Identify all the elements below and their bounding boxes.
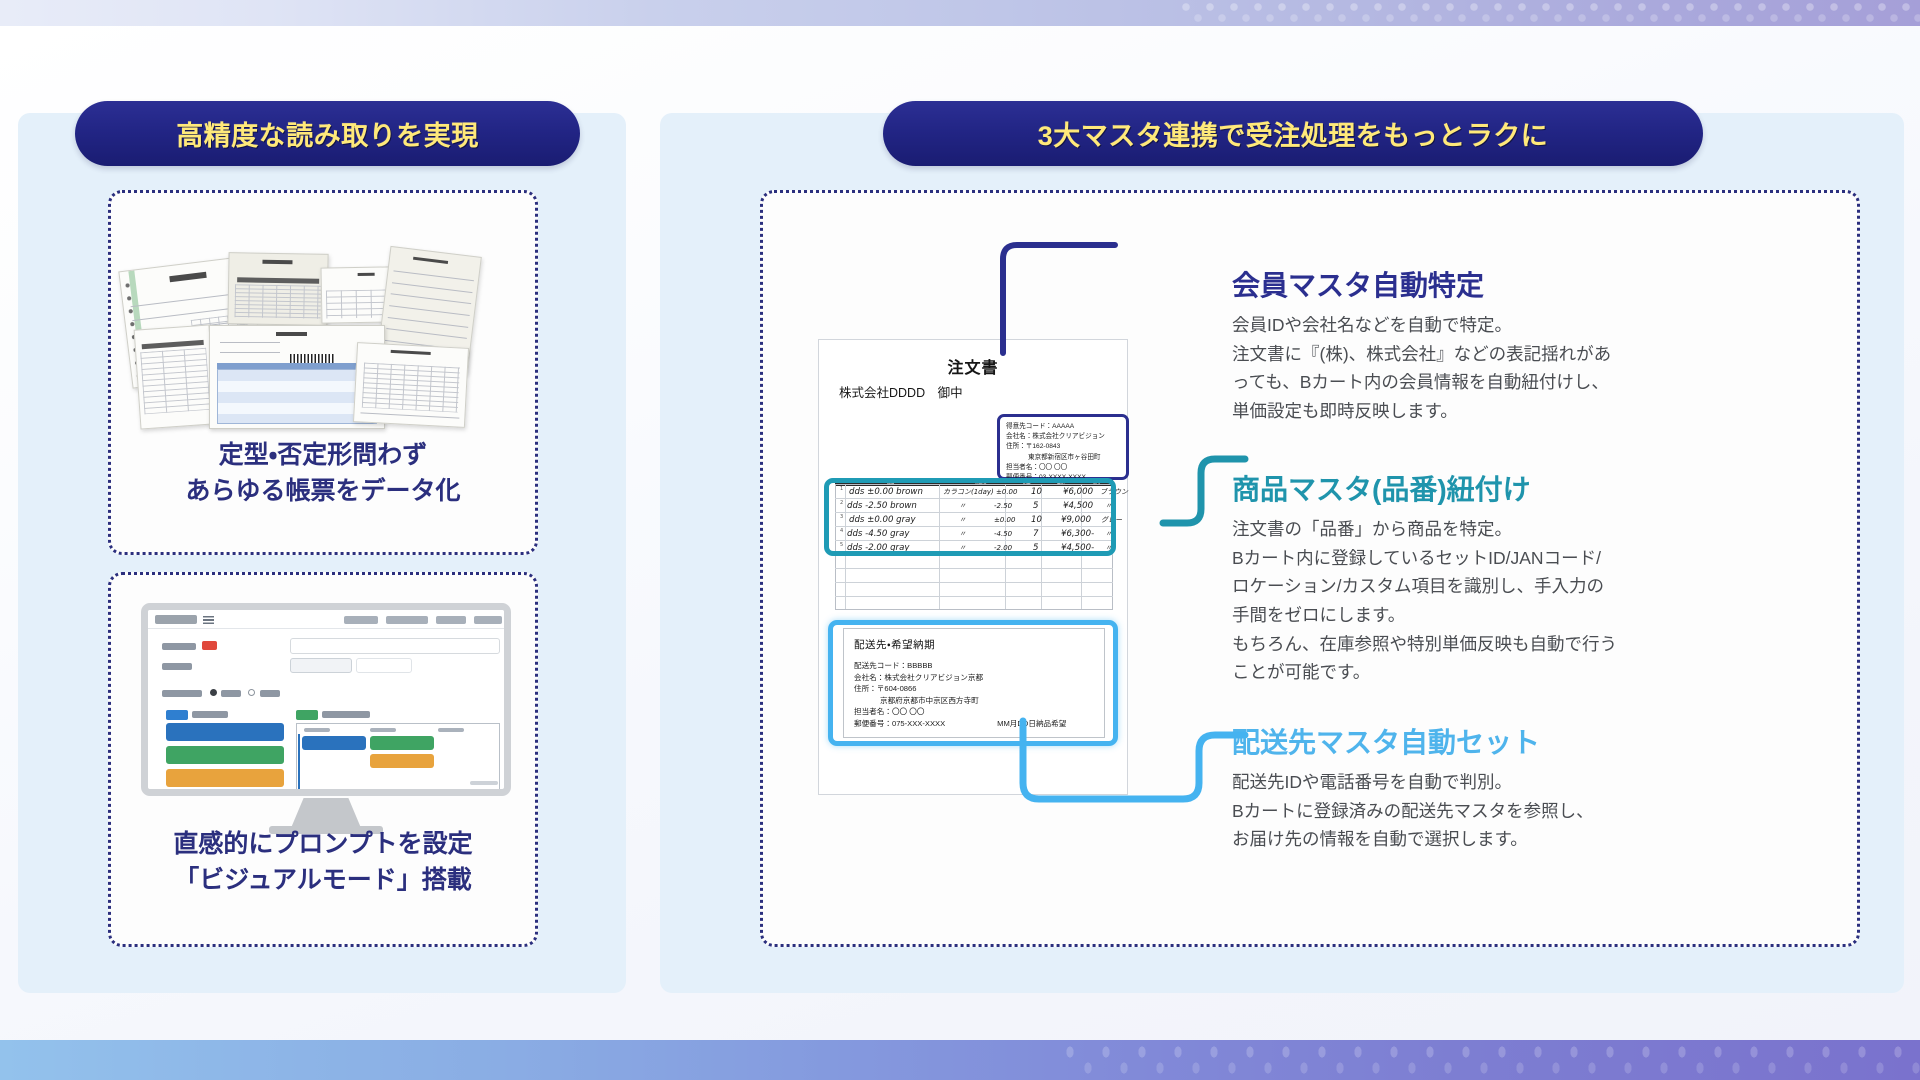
keyword-label	[162, 663, 192, 670]
right-section-header: 3大マスタ連携で受注処理をもっとラクに	[883, 101, 1703, 166]
visual-mode-caption: 直感的にプロンプトを設定 「ビジュアルモード」搭載	[111, 827, 535, 898]
row-no: 1	[840, 486, 843, 492]
canvas-footer-dots	[470, 781, 498, 785]
block-customer-info[interactable]	[166, 723, 284, 741]
scanned-forms-collage-image	[123, 241, 529, 431]
forms-caption-line-1: 定型・否定形問わず	[111, 438, 535, 474]
visual-mode-card: 直感的にプロンプトを設定 「ビジュアルモード」搭載	[108, 572, 538, 947]
connector-lines-group	[853, 223, 1253, 863]
feature-product-master: 商品マスタ(品番)紐付け 注文書の「品番」から商品を特定。 Bカート内に登録して…	[1232, 472, 1832, 687]
monitor-mockup-image	[141, 603, 511, 821]
feature-member-master: 会員マスタ自動特定 会員IDや会社名などを自動で特定。 注文書に『(株)、株式会…	[1232, 268, 1832, 426]
step1-badge	[166, 710, 188, 720]
visual-caption-line-2: 「ビジュアルモード」搭載	[111, 863, 535, 899]
bottom-gradient-band	[0, 1040, 1920, 1080]
bottom-band-dot-pattern	[1060, 1040, 1920, 1080]
monitor-stand	[291, 798, 361, 828]
row-no: 5	[840, 542, 843, 548]
canvas-col-2-label	[370, 728, 396, 732]
canvas-active-marker	[298, 734, 300, 796]
connector-product-master	[1163, 459, 1245, 523]
feature-member-title: 会員マスタ自動特定	[1232, 268, 1832, 303]
right-section-header-label: 3大マスタ連携で受注処理をもっとラクに	[1038, 114, 1549, 153]
feature-shipping-master: 配送先マスタ自動セット 配送先IDや電話番号を自動で判別。 Bカートに登録済みの…	[1232, 725, 1832, 854]
block-product-info[interactable]	[166, 746, 284, 764]
forms-collage-card: 定型・否定形問わず あらゆる帳票をデータ化	[108, 190, 538, 555]
help-menu-icon[interactable]	[344, 616, 378, 624]
canvas-block-shipping[interactable]	[370, 754, 434, 768]
output-format-label	[162, 690, 202, 697]
items-col-no: No.	[838, 480, 844, 484]
external-link-icon[interactable]	[436, 616, 466, 624]
prompt-name-input[interactable]	[290, 638, 500, 654]
feature-shipping-body: 配送先IDや電話番号を自動で判別。 Bカートに登録済みの配送先マスタを参照し、 …	[1232, 768, 1832, 854]
step2-badge	[296, 710, 318, 720]
radio-option-2-label	[260, 690, 280, 697]
prompt-list-icon[interactable]	[386, 616, 428, 624]
forms-collage-caption: 定型・否定形問わず あらゆる帳票をデータ化	[111, 438, 535, 509]
radio-option-2[interactable]	[248, 689, 255, 696]
prompt-name-label	[162, 643, 196, 650]
forms-caption-line-2: あらゆる帳票をデータ化	[111, 474, 535, 510]
user-account-icon[interactable]	[474, 616, 502, 624]
visual-mode-button[interactable]	[290, 658, 352, 673]
connector-shipping-master	[1023, 721, 1245, 799]
connector-member-master	[1003, 245, 1115, 353]
row-no: 4	[840, 528, 843, 534]
visual-caption-line-1: 直感的にプロンプトを設定	[111, 827, 535, 863]
hint-text-line-1	[166, 793, 282, 796]
text-mode-button[interactable]	[356, 658, 412, 673]
hamburger-menu-icon[interactable]	[203, 616, 214, 624]
required-badge	[202, 641, 217, 650]
canvas-col-3-label	[438, 728, 464, 732]
feature-product-body: 注文書の「品番」から商品を特定。 Bカート内に登録しているセットID/JANコー…	[1232, 515, 1832, 687]
monitor-screen	[141, 603, 511, 796]
feature-shipping-title: 配送先マスタ自動セット	[1232, 725, 1832, 760]
feature-product-title: 商品マスタ(品番)紐付け	[1232, 472, 1832, 507]
bcart-logo-icon	[155, 615, 197, 624]
feature-member-body: 会員IDや会社名などを自動で特定。 注文書に『(株)、株式会社』などの表記揺れが…	[1232, 311, 1832, 426]
canvas-col-1-label	[304, 728, 330, 732]
left-section-header-label: 高精度な読み取りを実現	[176, 114, 479, 153]
radio-option-1-label	[221, 690, 241, 697]
top-band-dot-pattern	[1180, 0, 1920, 26]
canvas-block-customer[interactable]	[302, 736, 366, 750]
left-section-header: 高精度な読み取りを実現	[75, 101, 580, 166]
row-no: 3	[840, 514, 843, 520]
layout-arrangement-label	[322, 711, 370, 718]
top-gradient-band	[0, 0, 1920, 26]
block-shipping-info[interactable]	[166, 769, 284, 787]
key-selection-label	[192, 711, 228, 718]
row-no: 2	[840, 500, 843, 506]
radio-option-1[interactable]	[210, 689, 217, 696]
canvas-block-product[interactable]	[370, 736, 434, 750]
